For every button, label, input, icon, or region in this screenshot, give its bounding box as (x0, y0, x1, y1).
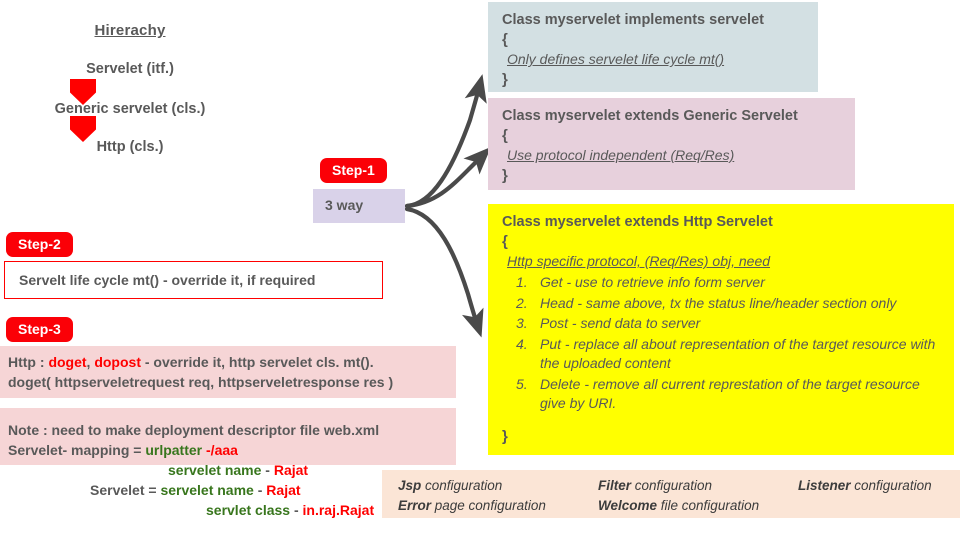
note5-green: servlet class (206, 502, 294, 518)
close-brace: } (502, 166, 855, 185)
note2-red: -/aaa (206, 442, 238, 458)
note3-green: servelet name (168, 462, 265, 478)
note4-gray: Servelet = (90, 482, 160, 498)
http-method-item: Head - same above, tx the status line/he… (502, 294, 944, 314)
config-entry-keyword: Welcome (598, 498, 657, 513)
config-entry-keyword: Jsp (398, 478, 421, 493)
hierarchy-node-http: Http (cls.) (0, 139, 260, 155)
open-brace: { (502, 126, 855, 145)
note-box: Note : need to make deployment descripto… (0, 408, 456, 465)
code-title: Class myservelet extends Generic Servele… (502, 106, 855, 126)
code-box-extends-generic-servelet: Class myservelet extends Generic Servele… (488, 98, 855, 190)
close-brace: } (502, 427, 508, 446)
hierarchy-node-generic-servelet: Generic servelet (cls.) (0, 101, 260, 117)
config-entry[interactable]: Jsp configuration (398, 478, 598, 498)
step-3-line-1: Http : doget, dopost - override it, http… (8, 352, 456, 372)
code-note: Use protocol independent (Req/Res) (502, 145, 734, 166)
step3-prefix: Http : (8, 354, 48, 370)
config-entry[interactable]: Listener configuration (798, 478, 932, 498)
step3-keyword-dopost: dopost (94, 354, 141, 370)
note2-green: urlpatter (145, 442, 206, 458)
note3-red: Rajat (274, 462, 308, 478)
note3-gray: - (265, 462, 274, 478)
config-grid: Jsp configurationFilter configurationLis… (398, 478, 932, 518)
step3-keyword-doget: doget (48, 354, 86, 370)
note4-gray2: - (258, 482, 267, 498)
http-method-item: Get - use to retrieve info form server (502, 273, 944, 293)
close-brace: } (502, 70, 818, 89)
code-box-extends-http-servelet: Class myservelet extends Http Servelet {… (488, 204, 954, 455)
http-method-item: Delete - remove all current represtation… (502, 375, 944, 414)
note4-red: Rajat (266, 482, 300, 498)
code-title: Class myservelet implements servelet (502, 10, 818, 30)
step3-suffix: - override it, http servelet cls. mt(). (141, 354, 374, 370)
step-2-text: Servelt life cycle mt() - override it, i… (19, 272, 315, 288)
http-method-item: Put - replace all about representation o… (502, 335, 944, 374)
config-entry-keyword: Listener (798, 478, 851, 493)
config-entry-keyword: Error (398, 498, 431, 513)
config-panel: Jsp configurationFilter configurationLis… (382, 470, 960, 518)
three-way-label: 3 way (325, 197, 363, 213)
three-way-box: 3 way (313, 189, 405, 223)
http-method-list: Get - use to retrieve info form serverHe… (502, 273, 954, 414)
code-box-implements-servelet: Class myservelet implements servelet { O… (488, 2, 818, 92)
open-brace: { (502, 30, 818, 49)
http-method-item: Post - send data to server (502, 314, 944, 334)
open-brace: { (502, 232, 954, 251)
step-1-tab[interactable]: Step-1 (320, 158, 387, 183)
note5-red: in.raj.Rajat (303, 502, 375, 518)
hierarchy-node-servelet: Servelet (itf.) (0, 61, 260, 77)
step-3-tab[interactable]: Step-3 (6, 317, 73, 342)
note4-green: servelet name (160, 482, 257, 498)
note-line-2: Servelet- mapping = urlpatter -/aaa (8, 440, 456, 460)
config-entry[interactable]: Welcome file configuration (598, 498, 798, 518)
config-entry[interactable]: Filter configuration (598, 478, 798, 498)
code-note: Http specific protocol, (Req/Res) obj, n… (502, 251, 770, 272)
step-2-box: Servelt life cycle mt() - override it, i… (4, 261, 383, 299)
step-3-line-2: doget( httpserveletrequest req, httpserv… (8, 372, 456, 392)
step-2-tab[interactable]: Step-2 (6, 232, 73, 257)
note5-gray: - (294, 502, 303, 518)
config-entry-keyword: Filter (598, 478, 631, 493)
config-entry[interactable]: Error page configuration (398, 498, 598, 518)
note-line-1: Note : need to make deployment descripto… (8, 420, 456, 440)
note2-gray: Servelet- mapping = (8, 442, 145, 458)
hierarchy-title: Hirerachy (60, 22, 200, 39)
code-title: Class myservelet extends Http Servelet (502, 212, 954, 232)
code-note: Only defines servelet life cycle mt() (502, 49, 724, 70)
step-3-box: Http : doget, dopost - override it, http… (0, 346, 456, 398)
